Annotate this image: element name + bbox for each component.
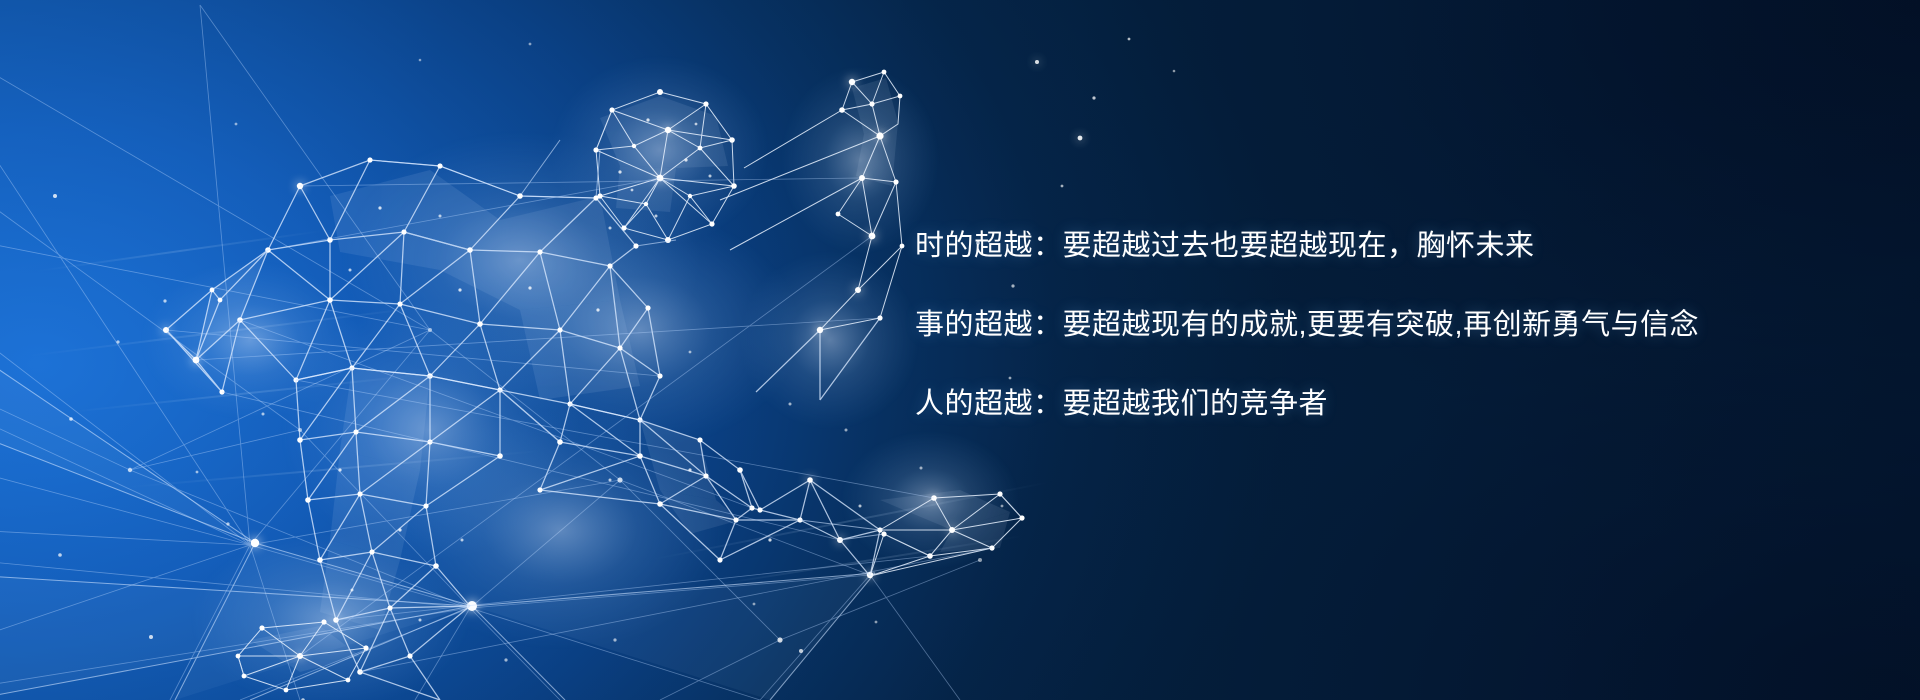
- tagline-time: 时的超越：要超越过去也要超越现在，胸怀未来: [915, 232, 1815, 261]
- hero-banner: .ln { stroke:#cfe3ff; stroke-width:1.05;…: [0, 0, 1920, 700]
- tagline-group: 时的超越：要超越过去也要超越现在，胸怀未来 事的超越：要超越现有的成就,更要有突…: [915, 232, 1815, 419]
- tagline-people: 人的超越：要超越我们的竞争者: [915, 390, 1815, 419]
- runner-wireframe-figure: [140, 55, 1025, 700]
- tagline-matter: 事的超越：要超越现有的成就,更要有突破,再创新勇气与信念: [915, 311, 1815, 340]
